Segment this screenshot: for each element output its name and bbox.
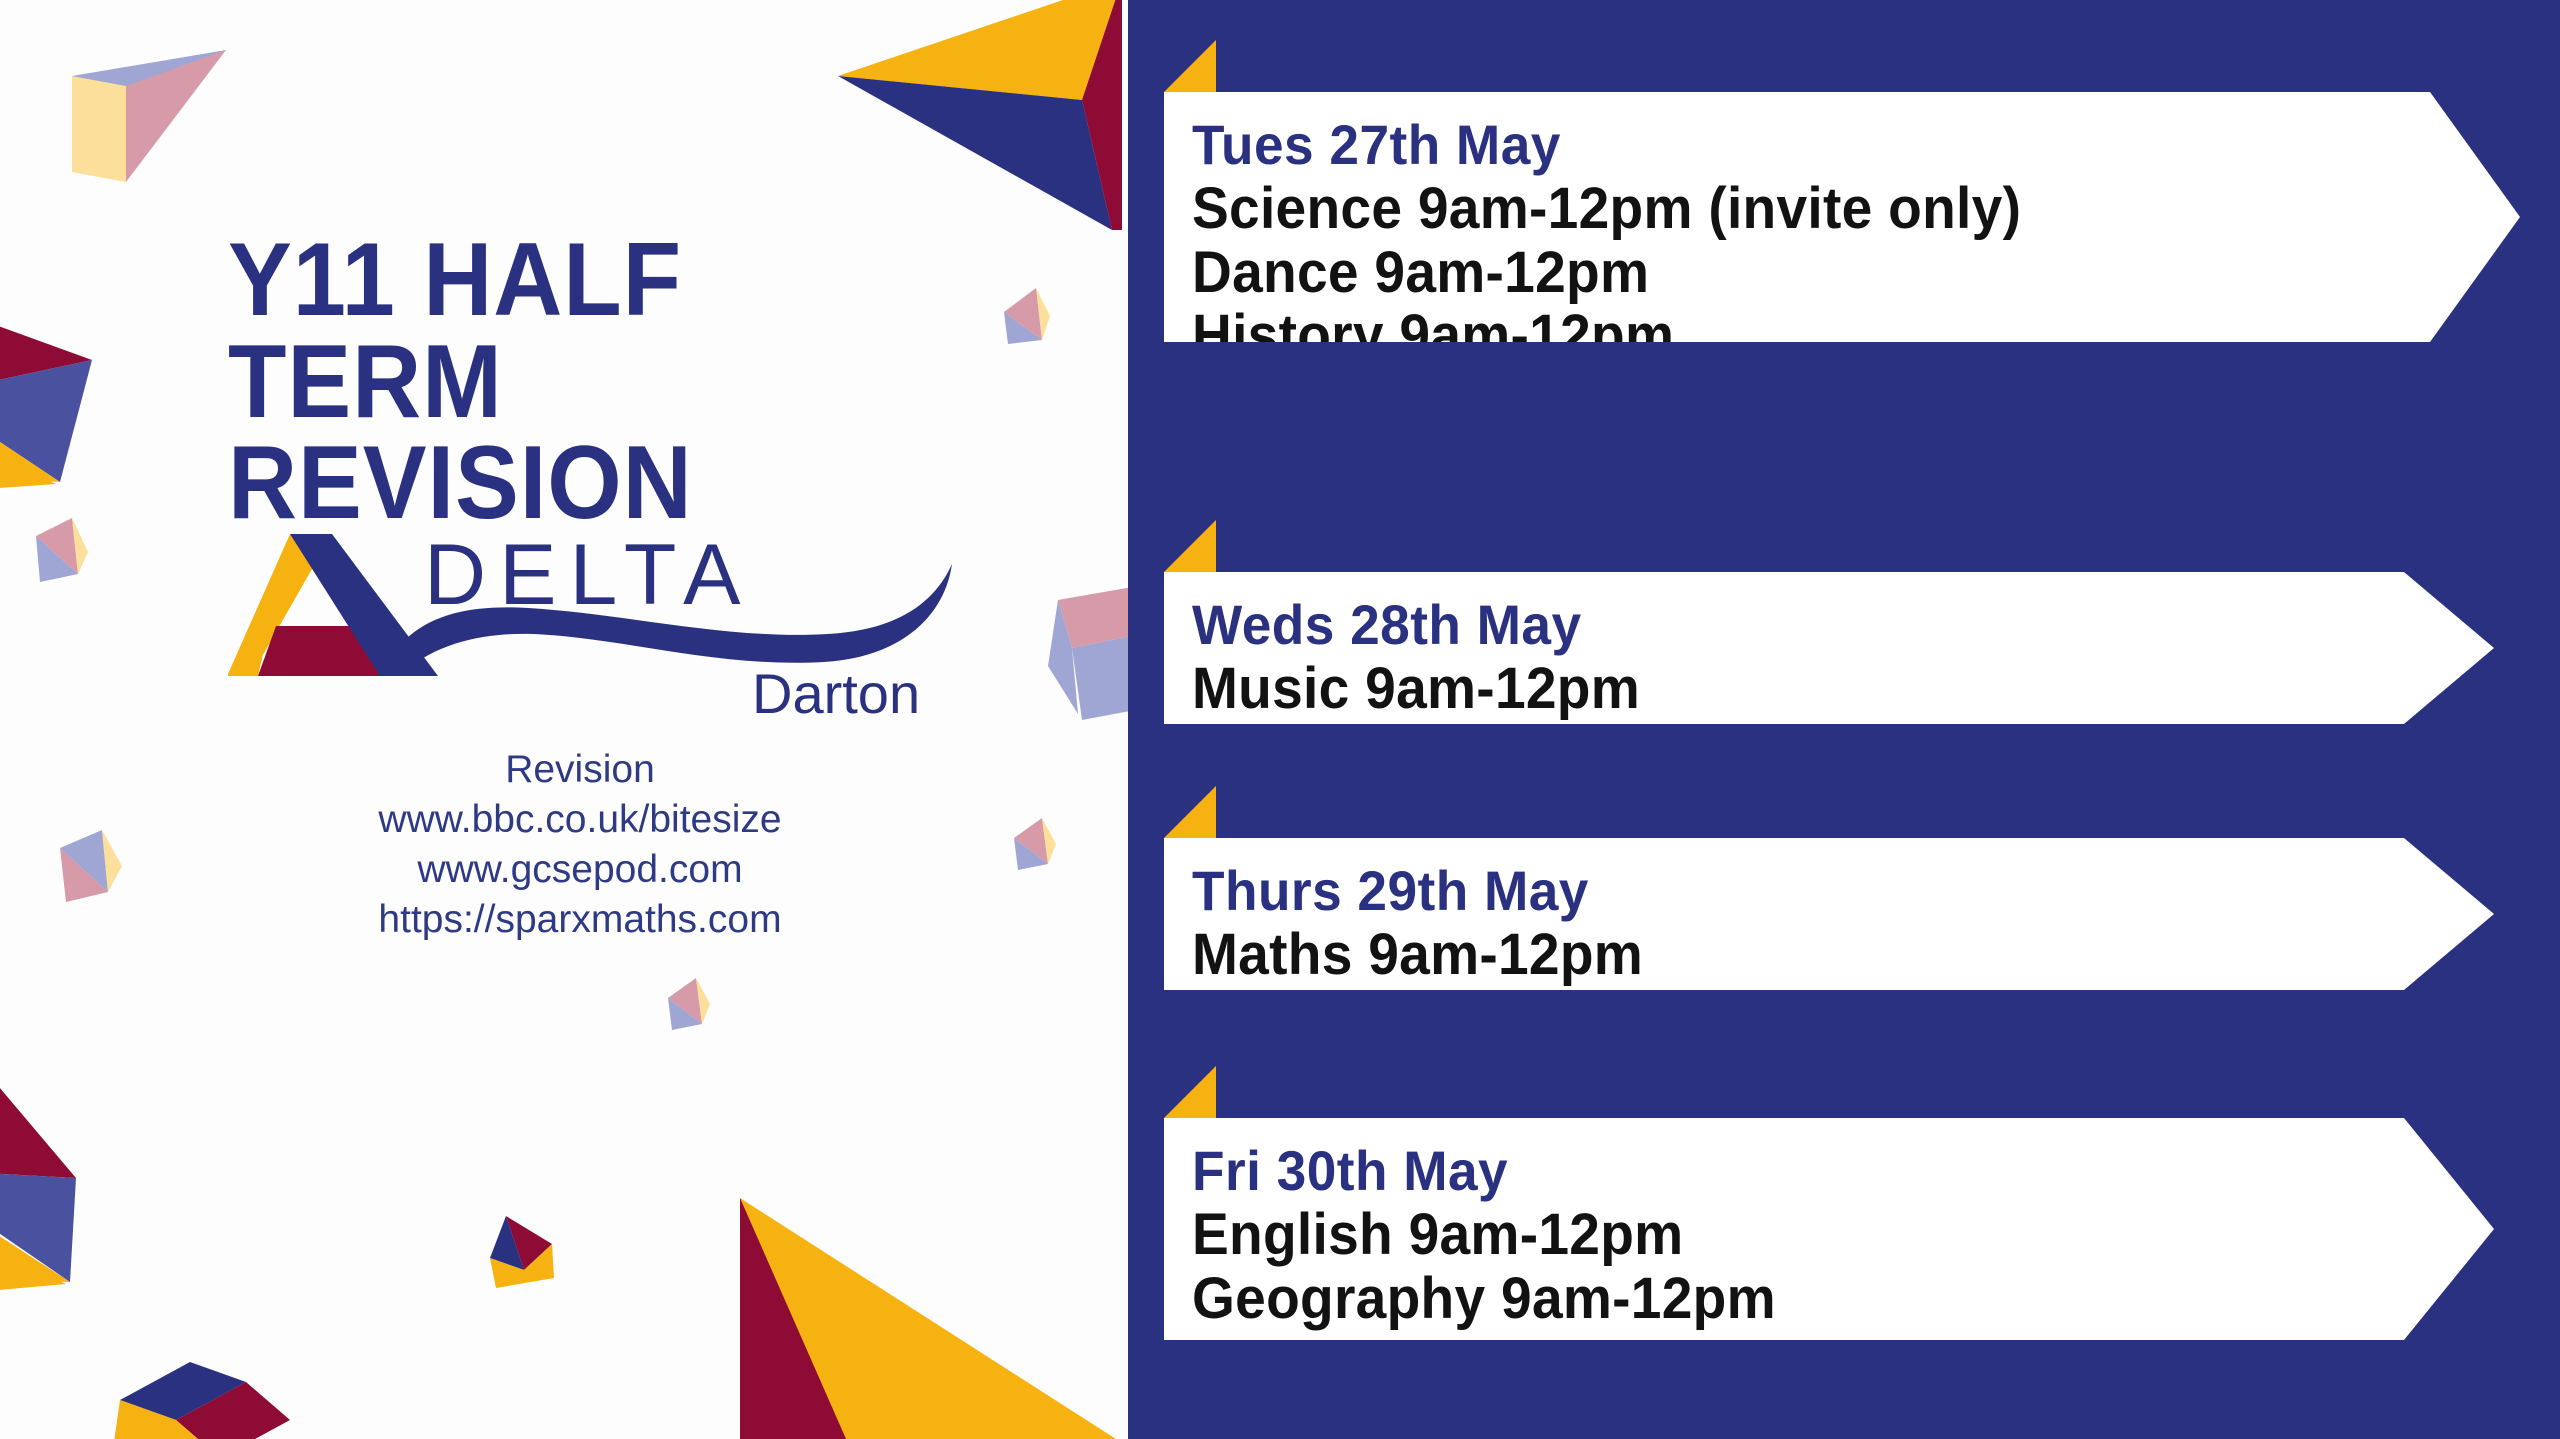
schedule-banner-tues: Tues 27th May Science 9am-12pm (invite o… [1164, 92, 2520, 342]
banner-session: Geography 9am-12pm [1192, 1267, 2429, 1331]
decoration-divider-upper-prism [988, 268, 1078, 368]
revision-link-bitesize[interactable]: www.bbc.co.uk/bitesize [200, 795, 960, 845]
banner-session: Dance 9am-12pm [1192, 241, 2454, 305]
banner-date: Fri 30th May [1192, 1140, 2429, 1203]
banner-corner-accent-icon [1164, 1066, 1216, 1118]
decoration-left-small-prism [18, 500, 108, 610]
decoration-bottom-left-prism [0, 1030, 210, 1330]
banner-session: Maths 9am-12pm [1192, 923, 2429, 987]
poster-canvas: Y11 Half Term Revision DELTA Darton [0, 0, 2560, 1439]
revision-link-sparxmaths[interactable]: https://sparxmaths.com [200, 895, 960, 945]
banner-date: Weds 28th May [1192, 594, 2429, 657]
revision-links: Revision www.bbc.co.uk/bitesize www.gcse… [200, 745, 960, 945]
title-line-1: Y11 Half Term [228, 222, 682, 440]
decoration-bottom-center-small-prism [466, 1200, 586, 1320]
delta-wordmark: DELTA [424, 527, 753, 623]
decoration-bottom-left-cube [110, 1348, 300, 1439]
page-title: Y11 Half Term Revision [228, 230, 982, 536]
banner-session: Music 9am-12pm [1192, 657, 2429, 721]
schedule-banner-thurs: Thurs 29th May Maths 9am-12pm [1164, 838, 2494, 990]
banner-session: History 9am-12pm [1192, 304, 2454, 368]
banner-corner-accent-icon [1164, 520, 1216, 572]
revision-link-gcsepod[interactable]: www.gcsepod.com [200, 845, 960, 895]
decoration-top-left-prism [20, 4, 290, 194]
schedule-panel: Tues 27th May Science 9am-12pm (invite o… [1128, 0, 2560, 1439]
delta-logo-graphic: DELTA Darton [228, 508, 968, 728]
banner-corner-accent-icon [1164, 40, 1216, 92]
schedule-banner-weds: Weds 28th May Music 9am-12pm [1164, 572, 2494, 724]
decoration-left-upper-prism [0, 232, 200, 522]
left-panel: Y11 Half Term Revision DELTA Darton [0, 0, 1128, 1439]
delta-school-name: Darton [752, 662, 920, 725]
revision-links-heading: Revision [200, 745, 960, 795]
decoration-left-mid-prism [40, 808, 150, 928]
banner-date: Tues 27th May [1192, 114, 2454, 177]
banner-date: Thurs 29th May [1192, 860, 2429, 923]
decoration-divider-mid-prism [1042, 548, 1128, 728]
banner-corner-accent-icon [1164, 786, 1216, 838]
delta-logo: DELTA Darton [228, 508, 968, 728]
decoration-bottom-center-triangle [700, 1188, 1128, 1439]
decoration-divider-lower-prism [1000, 800, 1080, 890]
banner-session: Science 9am-12pm (invite only) [1192, 177, 2454, 241]
banner-session: English 9am-12pm [1192, 1203, 2429, 1267]
schedule-banner-fri: Fri 30th May English 9am-12pm Geography … [1164, 1118, 2494, 1340]
decoration-divider-bottom-prism [654, 960, 734, 1050]
